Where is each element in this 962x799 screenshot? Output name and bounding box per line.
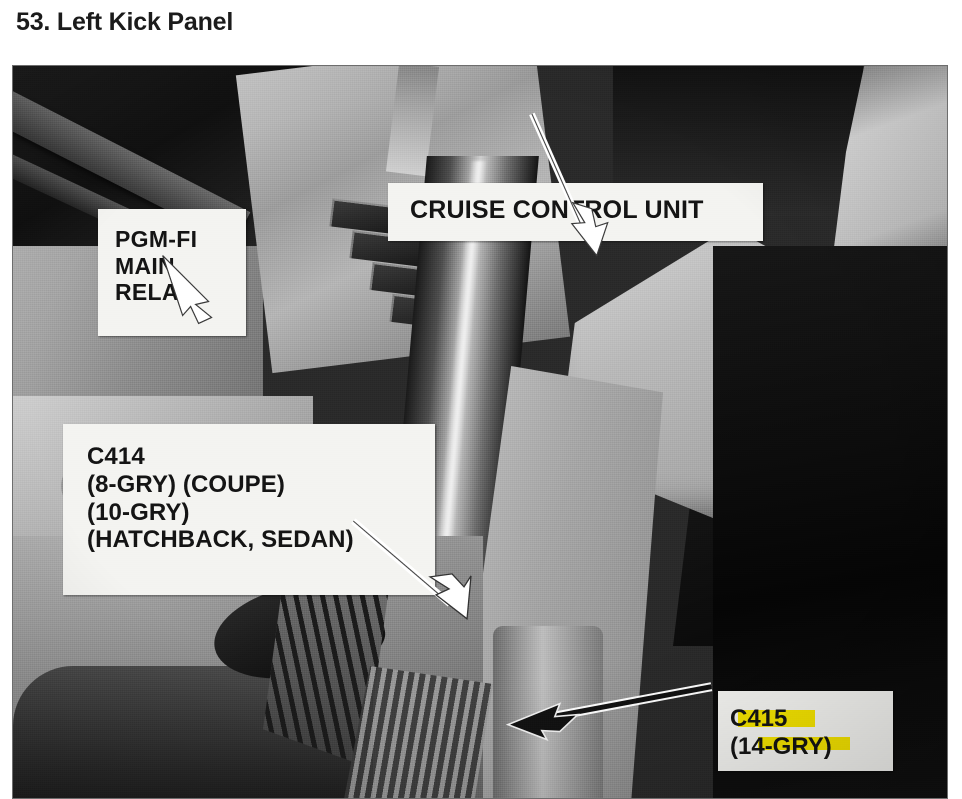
callout-line-highlighted: C415 (730, 705, 787, 733)
callout-line: PGM-FI (115, 226, 246, 253)
photo-region-air-duct (493, 626, 603, 798)
callout-pgm-fi-main-relay: PGM-FI MAIN RELAY (98, 209, 246, 336)
callout-line: (8-GRY) (COUPE) (87, 471, 435, 499)
photograph: PGM-FI MAIN RELAY CRUISE CONTROL UNIT C4… (13, 66, 947, 798)
callout-line: CRUISE CONTROL UNIT (410, 196, 763, 225)
callout-cruise-control-unit: CRUISE CONTROL UNIT (388, 183, 763, 241)
callout-line-highlighted: (14-GRY) (730, 733, 832, 761)
callout-connector-c414: C414 (8-GRY) (COUPE) (10-GRY) (HATCHBACK… (63, 424, 435, 595)
page-title: 53. Left Kick Panel (16, 8, 233, 37)
callout-connector-c415: C415 (14-GRY) (718, 691, 893, 771)
callout-line: (10-GRY) (87, 499, 435, 527)
callout-line: MAIN (115, 253, 246, 280)
callout-line: C414 (87, 443, 435, 471)
callout-line: RELAY (115, 279, 246, 306)
left-kick-panel-figure: PGM-FI MAIN RELAY CRUISE CONTROL UNIT C4… (12, 65, 948, 799)
callout-line: (HATCHBACK, SEDAN) (87, 526, 435, 554)
